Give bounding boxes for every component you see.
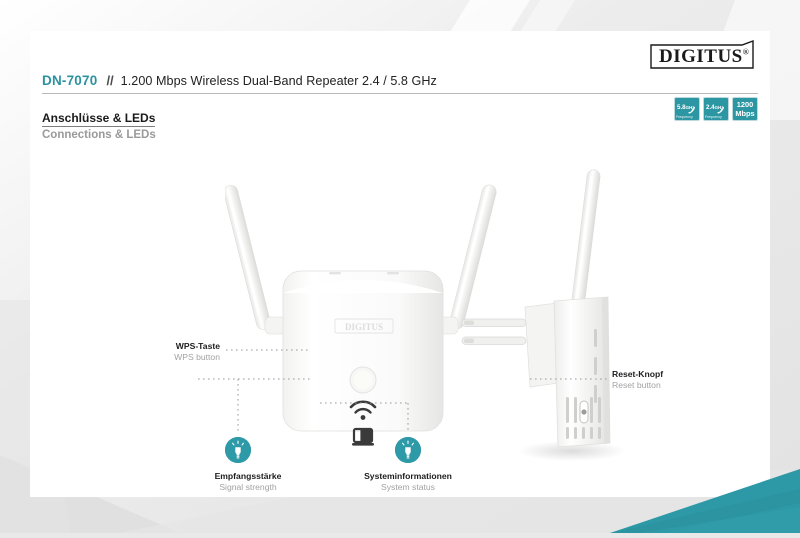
badge-5ghz-caption: Frequency — [676, 115, 693, 119]
callout-signal-strength: Empfangsstärke Signal strength — [178, 471, 318, 492]
badge-speed: 1200 Mbps — [732, 97, 758, 121]
product-illustration-stage: DIGITUS — [30, 141, 770, 497]
product-title-row: DN-7070 // 1.200 Mbps Wireless Dual-Band… — [42, 73, 758, 94]
callout-system-en: System status — [328, 482, 488, 493]
product-sku: DN-7070 — [42, 73, 97, 88]
logo-wordmark: DIGITUS® — [659, 46, 749, 68]
callout-system-status: Systeminformationen System status — [328, 471, 488, 492]
callout-reset: Reset-Knopf Reset button — [612, 369, 663, 390]
led-indicator-signal-icon — [225, 437, 251, 463]
badge-5ghz-value: 5.8GHz — [677, 105, 694, 111]
callout-system-de: Systeminformationen — [328, 471, 488, 482]
callout-reset-en: Reset button — [612, 380, 663, 391]
corner-accent — [610, 459, 800, 533]
badge-24ghz-value: 2.4GHz — [706, 105, 723, 111]
digitus-logo: DIGITUS® — [650, 40, 754, 72]
callout-reset-de: Reset-Knopf — [612, 369, 663, 380]
content-panel: DIGITUS® DN-7070 // 1.200 Mbps Wireless … — [30, 31, 770, 497]
section-title-en: Connections & LEDs — [42, 129, 156, 141]
badge-24ghz-unit: GHz — [715, 105, 724, 110]
callout-wps: WPS-Taste WPS button — [130, 341, 220, 362]
section-title-de: Anschlüsse & LEDs — [42, 111, 155, 127]
badge-speed-unit: Mbps — [733, 110, 757, 117]
product-name: 1.200 Mbps Wireless Dual-Band Repeater 2… — [121, 74, 437, 88]
callout-signal-en: Signal strength — [178, 482, 318, 493]
section-heading: Anschlüsse & LEDs Connections & LEDs — [42, 109, 156, 141]
callout-wps-de: WPS-Taste — [130, 341, 220, 352]
callout-wps-en: WPS button — [130, 352, 220, 363]
title-separator: // — [106, 73, 113, 88]
badge-speed-value: 1200 — [733, 101, 757, 108]
callout-signal-de: Empfangsstärke — [178, 471, 318, 482]
logo-registered-mark: ® — [743, 48, 749, 57]
badge-24ghz: 2.4GHz Frequency — [703, 97, 729, 121]
feature-badges: 5.8GHz Frequency 2.4GHz Frequency 1200 M… — [674, 97, 758, 121]
logo-wordmark-text: DIGITUS — [659, 46, 743, 67]
badge-5ghz-unit: GHz — [686, 105, 695, 110]
led-indicator-system-icon — [395, 437, 421, 463]
badge-24ghz-caption: Frequency — [705, 115, 722, 119]
badge-5ghz: 5.8GHz Frequency — [674, 97, 700, 121]
